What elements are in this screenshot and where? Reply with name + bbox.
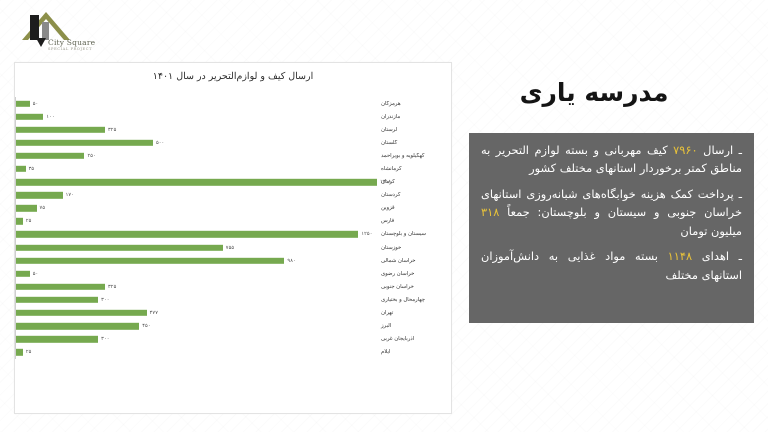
category-label: کرمانشاه — [377, 166, 445, 172]
bar — [16, 140, 153, 146]
bar-value-label: ۱۷۰ — [66, 192, 74, 198]
slide-root: City Square SPECIAL PROJECT ارسال کیف و … — [0, 0, 768, 432]
bar-track: ۴۷۷ — [15, 307, 377, 320]
info-bullet: ـ اهدای ۱۱۴۸ بسته مواد غذایی به دانش‌آمو… — [481, 247, 742, 284]
chart-row: قزوین۷۵ — [15, 202, 445, 215]
logo-brand-text: City Square SPECIAL PROJECT — [48, 38, 95, 51]
chart-row: کرمان۱۳۱۸ — [15, 176, 445, 189]
bar — [16, 271, 30, 277]
bar-value-label: ۵۰ — [33, 271, 39, 277]
category-label: مازندران — [377, 114, 445, 120]
bar — [16, 166, 26, 172]
bar-track: ۱۳۱۸ — [15, 176, 377, 189]
bar-value-label: ۷۵ — [40, 205, 46, 211]
logo-brand-tagline: SPECIAL PROJECT — [48, 47, 95, 51]
category-label: قزوین — [377, 205, 445, 211]
info-bullet-list: ـ ارسال ۷۹۶۰ کیف مهربانی و بسته لوازم ال… — [481, 141, 742, 315]
bar — [16, 218, 23, 224]
bar — [16, 192, 63, 198]
chart-row: هرمزگان۵۰ — [15, 97, 445, 110]
bar-value-label: ۳۵ — [29, 166, 35, 172]
bar-track: ۳۲۵ — [15, 280, 377, 293]
bar-track: ۱۲۵۰ — [15, 228, 377, 241]
bar-track: ۳۰۰ — [15, 293, 377, 306]
bar-value-label: ۵۰ — [33, 101, 39, 107]
category-label: فارس — [377, 218, 445, 224]
category-label: سیستان و بلوچستان — [377, 231, 445, 237]
bar-track: ۷۵ — [15, 202, 377, 215]
chart-row: مازندران۱۰۰ — [15, 110, 445, 123]
bullet-text-prefix: ـ اهدای — [692, 249, 742, 263]
chart-row: فارس۲۵ — [15, 215, 445, 228]
bar — [16, 323, 139, 329]
bar-chart-plot: هرمزگان۵۰مازندران۱۰۰لرستان۳۲۵گلستان۵۰۰که… — [15, 97, 445, 399]
bar — [16, 127, 105, 133]
info-bullet: ـ پرداخت کمک هزینه خوابگاه‌های شبانه‌روز… — [481, 185, 742, 240]
bar-value-label: ۳۰۰ — [101, 336, 109, 342]
category-label: کردستان — [377, 192, 445, 198]
bullet-highlight-number: ۱۱۴۸ — [668, 249, 692, 263]
chart-row: خراسان رضوی۵۰ — [15, 267, 445, 280]
chart-card: ارسال کیف و لوازم‌التحریر در سال ۱۴۰۱ هر… — [14, 62, 452, 414]
category-label: گلستان — [377, 140, 445, 146]
bar-value-label: ۳۲۵ — [108, 284, 116, 290]
bar — [16, 349, 23, 355]
bar — [16, 205, 37, 211]
bar-track: ۱۷۰ — [15, 189, 377, 202]
category-label: چهارمحال و بختیاری — [377, 297, 445, 303]
bar-track: ۳۲۵ — [15, 123, 377, 136]
category-label: خوزستان — [377, 245, 445, 251]
bar-track: ۷۵۵ — [15, 241, 377, 254]
logo: City Square SPECIAL PROJECT — [18, 6, 104, 58]
triangle-icon — [35, 36, 47, 48]
chart-row: لرستان۳۲۵ — [15, 123, 445, 136]
category-label: ایلام — [377, 349, 445, 355]
category-label: خراسان جنوبی — [377, 284, 445, 290]
chart-row: خراسان جنوبی۳۲۵ — [15, 280, 445, 293]
chart-row: کرمانشاه۳۵ — [15, 162, 445, 175]
bar — [16, 284, 105, 290]
bar-track: ۵۰ — [15, 97, 377, 110]
bullet-text-suffix: میلیون تومان — [680, 224, 742, 238]
bar-track: ۱۰۰ — [15, 110, 377, 123]
bullet-highlight-number: ۷۹۶۰ — [673, 143, 697, 157]
chart-row: چهارمحال و بختیاری۳۰۰ — [15, 293, 445, 306]
chart-row: کهگیلویه و بویراحمد۲۵۰ — [15, 149, 445, 162]
page-title: مدرسه یاری — [444, 78, 744, 107]
bar-value-label: ۵۰۰ — [156, 140, 164, 146]
bar-value-label: ۳۰۰ — [101, 297, 109, 303]
bar-track: ۲۵۰ — [15, 149, 377, 162]
bar — [16, 244, 223, 250]
chart-row: خراسان شمالی۹۸۰ — [15, 254, 445, 267]
info-bullet: ـ ارسال ۷۹۶۰ کیف مهربانی و بسته لوازم ال… — [481, 141, 742, 178]
bar-value-label: ۹۸۰ — [287, 258, 295, 264]
info-box: ـ ارسال ۷۹۶۰ کیف مهربانی و بسته لوازم ال… — [469, 133, 754, 323]
bar-value-label: ۱۰۰ — [46, 114, 54, 120]
bar-track: ۵۰۰ — [15, 136, 377, 149]
bullet-highlight-number: ۳۱۸ — [481, 205, 499, 219]
bar-track: ۳۰۰ — [15, 333, 377, 346]
chart-row: سیستان و بلوچستان۱۲۵۰ — [15, 228, 445, 241]
bar-value-label: ۱۲۵۰ — [361, 231, 372, 237]
bar-value-label: ۳۲۵ — [108, 127, 116, 133]
chart-title: ارسال کیف و لوازم‌التحریر در سال ۱۴۰۱ — [15, 71, 451, 82]
bar-value-label: ۷۵۵ — [226, 245, 234, 251]
bar-track: ۴۵۰ — [15, 320, 377, 333]
bar-track: ۹۸۰ — [15, 254, 377, 267]
bar — [16, 153, 84, 159]
chart-row: گلستان۵۰۰ — [15, 136, 445, 149]
category-label: خراسان رضوی — [377, 271, 445, 277]
bar — [16, 336, 98, 342]
category-label: کهگیلویه و بویراحمد — [377, 153, 445, 159]
bar — [16, 257, 284, 263]
category-label: خراسان شمالی — [377, 258, 445, 264]
bullet-text-prefix: ـ ارسال — [698, 143, 742, 157]
bar-value-label: ۲۵ — [26, 218, 32, 224]
category-label: تهران — [377, 310, 445, 316]
bar-value-label: ۲۵ — [26, 349, 32, 355]
bar-track: ۳۵ — [15, 162, 377, 175]
bar — [16, 100, 30, 106]
chart-row: کردستان۱۷۰ — [15, 189, 445, 202]
category-label: البرز — [377, 323, 445, 329]
category-label: هرمزگان — [377, 101, 445, 107]
bar — [16, 231, 358, 237]
chart-row: تهران۴۷۷ — [15, 307, 445, 320]
chart-row: آذربایجان غربی۳۰۰ — [15, 333, 445, 346]
bar-value-label: ۱۳۱۸ — [380, 179, 391, 185]
bar-value-label: ۴۵۰ — [142, 323, 150, 329]
bar-value-label: ۴۷۷ — [150, 310, 158, 316]
bar-track: ۵۰ — [15, 267, 377, 280]
bar — [16, 113, 43, 119]
bullet-text-prefix: ـ پرداخت کمک هزینه خوابگاه‌های شبانه‌روز… — [481, 187, 742, 219]
bar-value-label: ۲۵۰ — [87, 153, 95, 159]
bar — [16, 297, 98, 303]
chart-row: ایلام۲۵ — [15, 346, 445, 359]
chart-row: البرز۴۵۰ — [15, 320, 445, 333]
bar-track: ۲۵ — [15, 346, 377, 359]
bar — [16, 310, 147, 316]
bar-track: ۲۵ — [15, 215, 377, 228]
chart-row: خوزستان۷۵۵ — [15, 241, 445, 254]
category-label: آذربایجان غربی — [377, 336, 445, 342]
bar — [16, 179, 377, 185]
category-label: لرستان — [377, 127, 445, 133]
logo-brand-name: City Square — [48, 38, 95, 47]
